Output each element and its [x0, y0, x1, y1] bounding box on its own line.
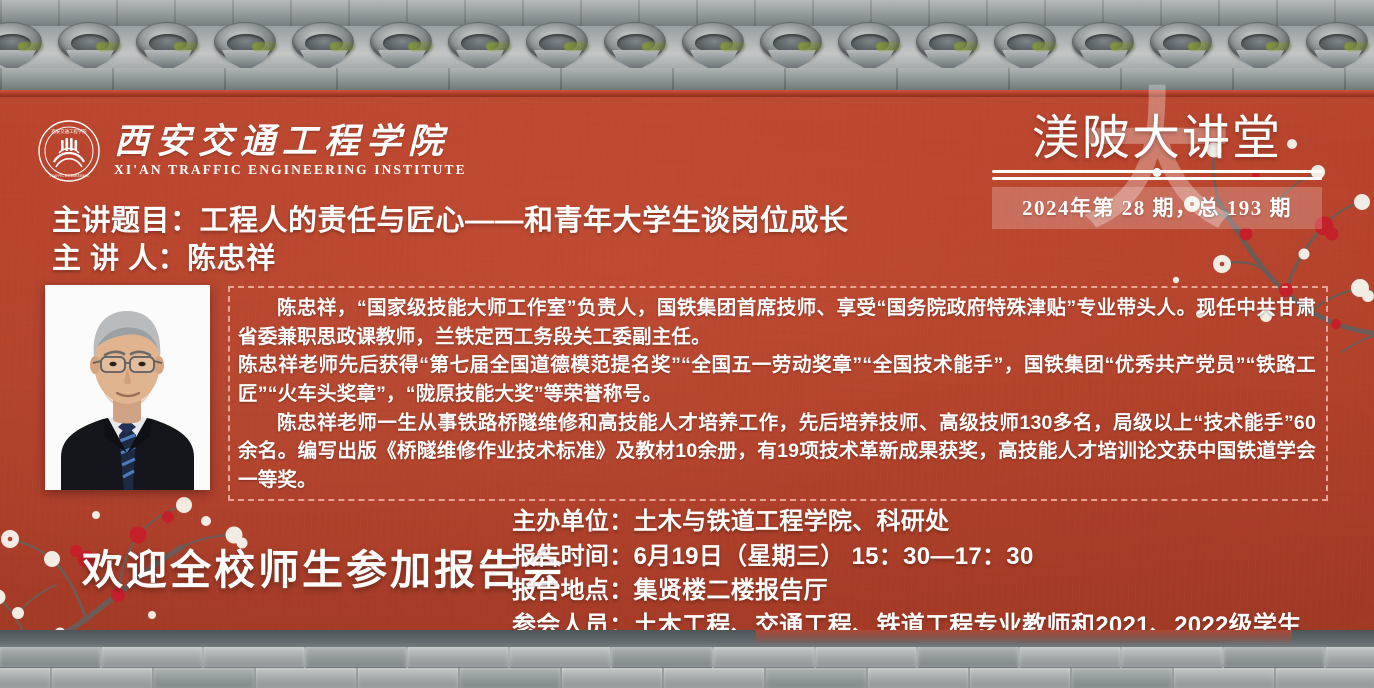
roof-tile-icon: [442, 22, 520, 70]
event-info-label: 报告地点：: [512, 577, 634, 604]
roof-tile-icon: [1144, 22, 1222, 70]
roof-tile-icon: [1066, 22, 1144, 70]
brick: [766, 668, 866, 688]
lecture-title-block: 主讲题目：工程人的责任与匠心——和青年大学生谈岗位成长 主 讲 人：陈忠祥: [52, 202, 849, 279]
roof-tile-icon: [52, 22, 130, 70]
roof-red-edge: [0, 90, 1374, 97]
event-info-list: 主办单位：土木与铁道工程学院、科研处 报告时间：6月19日（星期三） 15：30…: [512, 505, 1302, 643]
event-info-row: 主办单位：土木与铁道工程学院、科研处: [512, 505, 1302, 540]
roof-tile-icon: [0, 22, 52, 70]
speaker-portrait-photo: [45, 285, 210, 490]
brick: [256, 668, 356, 688]
bio-paragraph: 陈忠祥老师一生从事铁路桥隧维修和高技能人才培养工作，先后培养技师、高级技师130…: [238, 409, 1316, 495]
brick: [1224, 647, 1324, 668]
brick: [612, 647, 712, 668]
roof-tile-icon: [598, 22, 676, 70]
brick-row: [0, 647, 1374, 668]
brick: [868, 668, 968, 688]
event-info-value: 集贤楼二楼报告厅: [634, 577, 828, 604]
roof-tile-icon: [676, 22, 754, 70]
brick: [408, 647, 508, 668]
brick-base: [0, 630, 1374, 688]
event-info-label: 报告时间：: [512, 543, 634, 570]
roof-tile-icon: [1300, 22, 1374, 70]
brick: [306, 647, 406, 668]
school-name-en: XI'AN TRAFFIC ENGINEERING INSTITUTE: [114, 162, 467, 178]
brick: [918, 647, 1018, 668]
brick: [664, 668, 764, 688]
event-poster: 西安交通工程学院 TRAFFIC ENGINEERING 西安交通工程学院 XI…: [0, 0, 1374, 688]
lecture-series-brand: 大 渼陂大讲堂 2024年第 28 期，总 193 期: [992, 112, 1322, 229]
issue-badge: 2024年第 28 期，总 193 期: [992, 187, 1322, 229]
event-info-value: 土木与铁道工程学院、科研处: [634, 508, 950, 535]
welcome-slogan: 欢迎全校师生参加报告会: [82, 536, 566, 596]
bio-paragraph: 陈忠祥，“国家级技能大师工作室”负责人，国铁集团首席技师、享受“国务院政府特殊津…: [238, 294, 1316, 351]
brick: [102, 647, 202, 668]
lecture-topic: 主讲题目：工程人的责任与匠心——和青年大学生谈岗位成长: [52, 202, 849, 240]
bio-paragraph: 陈忠祥老师先后获得“第七届全国道德模范提名奖”“全国五一劳动奖章”“全国技术能手…: [238, 351, 1316, 408]
roof-stone-bottom: [0, 68, 1374, 92]
brick: [154, 668, 254, 688]
brand-rule-second: [992, 177, 1322, 180]
brick: [816, 647, 916, 668]
roof-tile-icon: [832, 22, 910, 70]
brick: [1020, 647, 1120, 668]
brick: [970, 668, 1070, 688]
lecture-speaker: 主 讲 人：陈忠祥: [52, 240, 849, 278]
event-info-row: 报告时间：6月19日（星期三） 15：30—17：30: [512, 540, 1302, 575]
brick: [0, 647, 100, 668]
brick: [358, 668, 458, 688]
roof-tile-icon: [286, 22, 364, 70]
brick: [1072, 668, 1172, 688]
brand-title: 渼陂大讲堂: [992, 112, 1322, 166]
school-logo: 西安交通工程学院 TRAFFIC ENGINEERING 西安交通工程学院 XI…: [38, 120, 467, 182]
base-bricks: [0, 647, 1374, 688]
university-seal-emblem-icon: 西安交通工程学院 TRAFFIC ENGINEERING: [38, 120, 100, 182]
roof-tiles: [0, 22, 1374, 70]
brick: [0, 668, 50, 688]
roof-tile-icon: [130, 22, 208, 70]
roof-tile-icon: [1222, 22, 1300, 70]
brick-row: [0, 668, 1374, 688]
roof-tile-icon: [364, 22, 442, 70]
brick: [562, 668, 662, 688]
brick: [1276, 668, 1374, 688]
brick: [1174, 668, 1274, 688]
svg-text:TRAFFIC ENGINEERING: TRAFFIC ENGINEERING: [50, 174, 89, 178]
svg-text:西安交通工程学院: 西安交通工程学院: [51, 128, 87, 135]
brick: [714, 647, 814, 668]
roof-tile-band: [0, 0, 1374, 92]
speaker-bio-box: 陈忠祥，“国家级技能大师工作室”负责人，国铁集团首席技师、享受“国务院政府特殊津…: [228, 286, 1328, 501]
brick: [204, 647, 304, 668]
roof-tile-icon: [754, 22, 832, 70]
brand-divider-rules: [992, 170, 1322, 180]
roof-tile-icon: [520, 22, 598, 70]
brick: [1326, 647, 1374, 668]
base-red-bleed: [756, 630, 1292, 645]
roof-tile-icon: [208, 22, 286, 70]
brick: [460, 668, 560, 688]
school-name-cn: 西安交通工程学院: [114, 124, 467, 161]
brick: [510, 647, 610, 668]
brick: [52, 668, 152, 688]
roof-tile-icon: [910, 22, 988, 70]
event-info-value: 6月19日（星期三） 15：30—17：30: [634, 543, 1034, 570]
event-info-row: 报告地点：集贤楼二楼报告厅: [512, 574, 1302, 609]
brick: [1122, 647, 1222, 668]
brand-rule-dot: [1153, 168, 1162, 177]
roof-tile-icon: [988, 22, 1066, 70]
event-info-label: 主办单位：: [512, 508, 634, 535]
